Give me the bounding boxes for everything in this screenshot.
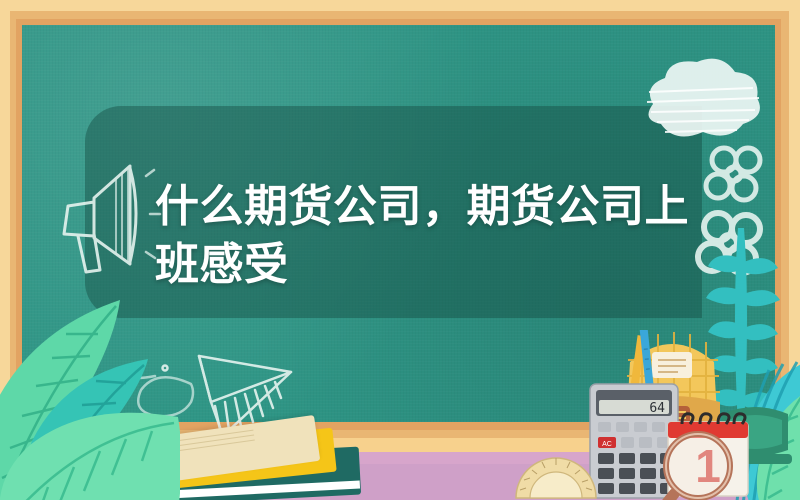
magnifying-glass-icon [652, 424, 744, 500]
leaf-icon [0, 395, 180, 500]
protractor-icon [512, 432, 600, 500]
flower-icon [700, 140, 772, 210]
megaphone-icon [42, 152, 162, 282]
page-title-line-2: 班感受 [155, 236, 655, 294]
svg-text:AC: AC [602, 441, 612, 448]
cover-image: 64 AC [0, 0, 800, 500]
page-title-line-1: 什么期货公司，期货公司上 [155, 178, 655, 236]
page-title: 什么期货公司，期货公司上 班感受 [155, 178, 655, 294]
